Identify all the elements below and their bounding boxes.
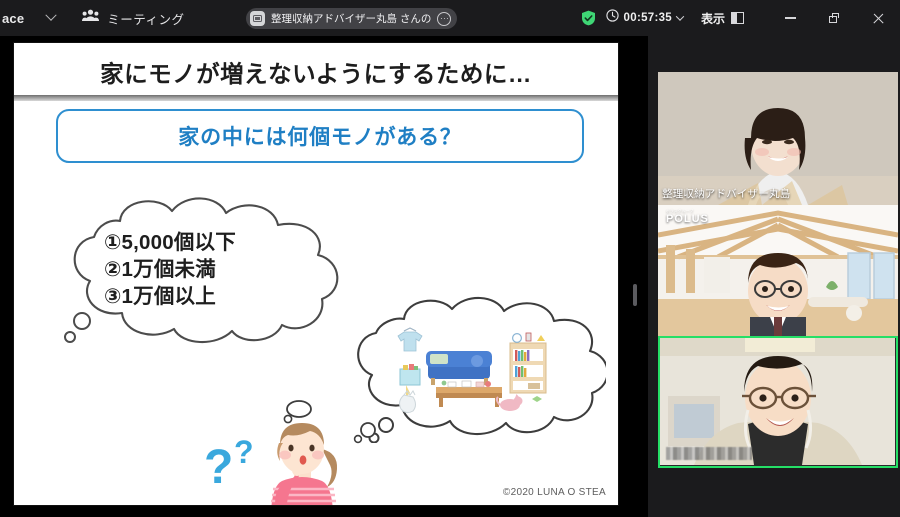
- participant-tile[interactable]: ポラスグループ POLUS: [658, 205, 898, 336]
- shared-screen-stage[interactable]: 家にモノが増えないようにするために… 家の中には何個モノがある？ ①5,000個…: [0, 36, 648, 517]
- restore-window-icon: [829, 13, 839, 23]
- option-list: ①5,000個以下 ②1万個未満 ③1万個以上: [104, 229, 354, 310]
- woman-thinking-illustration: [252, 415, 362, 506]
- ellipsis-circle-icon[interactable]: [437, 12, 451, 26]
- minimize-icon: [785, 17, 796, 18]
- meeting-tab[interactable]: ミーティング: [82, 9, 184, 28]
- restore-button[interactable]: [812, 0, 856, 36]
- green-shield-check-icon[interactable]: [581, 10, 596, 26]
- screen-share-icon: [250, 11, 265, 26]
- svg-text:?: ?: [234, 434, 254, 470]
- elapsed-time-label: 00:57:35: [624, 12, 672, 24]
- panel-resize-handle[interactable]: [633, 284, 637, 306]
- meeting-tab-label: ミーティング: [107, 9, 184, 28]
- participant-name-label: 整理収納アドバイザー丸島: [662, 186, 790, 201]
- view-button[interactable]: 表示: [701, 10, 744, 27]
- meeting-toolbar: ace ミーティング: [0, 0, 900, 36]
- blurred-name-label: [666, 447, 752, 460]
- view-button-label: 表示: [701, 10, 725, 27]
- toolbar-right-group: 00:57:35 表示: [581, 0, 900, 36]
- list-item: ②1万個未満: [104, 256, 354, 283]
- participant-tile-active-speaker[interactable]: [658, 336, 898, 468]
- copyright-label: ©2020 LUNA O STEA: [503, 487, 606, 498]
- presentation-slide: 家にモノが増えないようにするために… 家の中には何個モノがある？ ①5,000個…: [13, 42, 619, 506]
- app-name-label: ace: [0, 11, 24, 26]
- question-box: 家の中には何個モノがある？: [56, 109, 584, 163]
- polus-watermark: ポラスグループ POLUS: [666, 210, 709, 225]
- chevron-down-icon[interactable]: [38, 5, 64, 31]
- screen-share-label: 整理収納アドバイザー丸島 さんの: [271, 11, 431, 26]
- clock-icon: [606, 9, 619, 27]
- toolbar-left-group: ace ミーティング: [0, 5, 185, 31]
- svg-text:?: ?: [204, 441, 233, 494]
- room-items-illustration: [392, 321, 564, 417]
- participant-tile[interactable]: 整理収納アドバイザー丸島: [658, 72, 898, 205]
- list-item: ③1万個以上: [104, 283, 354, 310]
- green-item-icon: [532, 396, 542, 402]
- bookshelf-icon: [510, 333, 546, 393]
- participant-video-feed: [660, 338, 895, 465]
- layout-grid-icon: [731, 12, 744, 24]
- people-group-icon: [82, 9, 99, 27]
- close-button[interactable]: [856, 0, 900, 36]
- table-icon: [436, 381, 502, 407]
- list-item: ①5,000個以下: [104, 229, 354, 256]
- question-box-label: 家の中には何個モノがある？: [178, 121, 461, 151]
- title-divider: [14, 95, 618, 101]
- screen-share-indicator[interactable]: 整理収納アドバイザー丸島 さんの: [246, 8, 457, 29]
- thought-cloud-options: ①5,000個以下 ②1万個未満 ③1万個以上: [60, 193, 370, 353]
- meeting-timer[interactable]: 00:57:35: [606, 9, 683, 27]
- participant-video-panel: 整理収納アドバイザー丸島: [648, 36, 900, 517]
- chevron-down-icon[interactable]: [676, 12, 684, 20]
- toy-box-icon: [400, 364, 420, 397]
- minimize-button[interactable]: [768, 0, 812, 36]
- thought-cloud-room-items: [346, 293, 606, 443]
- close-icon: [873, 13, 884, 24]
- polus-watermark-sub: ポラスグループ: [666, 210, 709, 214]
- polus-watermark-label: POLUS: [666, 213, 709, 225]
- sofa-icon: [426, 351, 492, 385]
- page-title: 家にモノが増えないようにするために…: [14, 55, 618, 89]
- zoom-meeting-window: ace ミーティング: [0, 0, 900, 517]
- shirt-icon: [398, 328, 422, 351]
